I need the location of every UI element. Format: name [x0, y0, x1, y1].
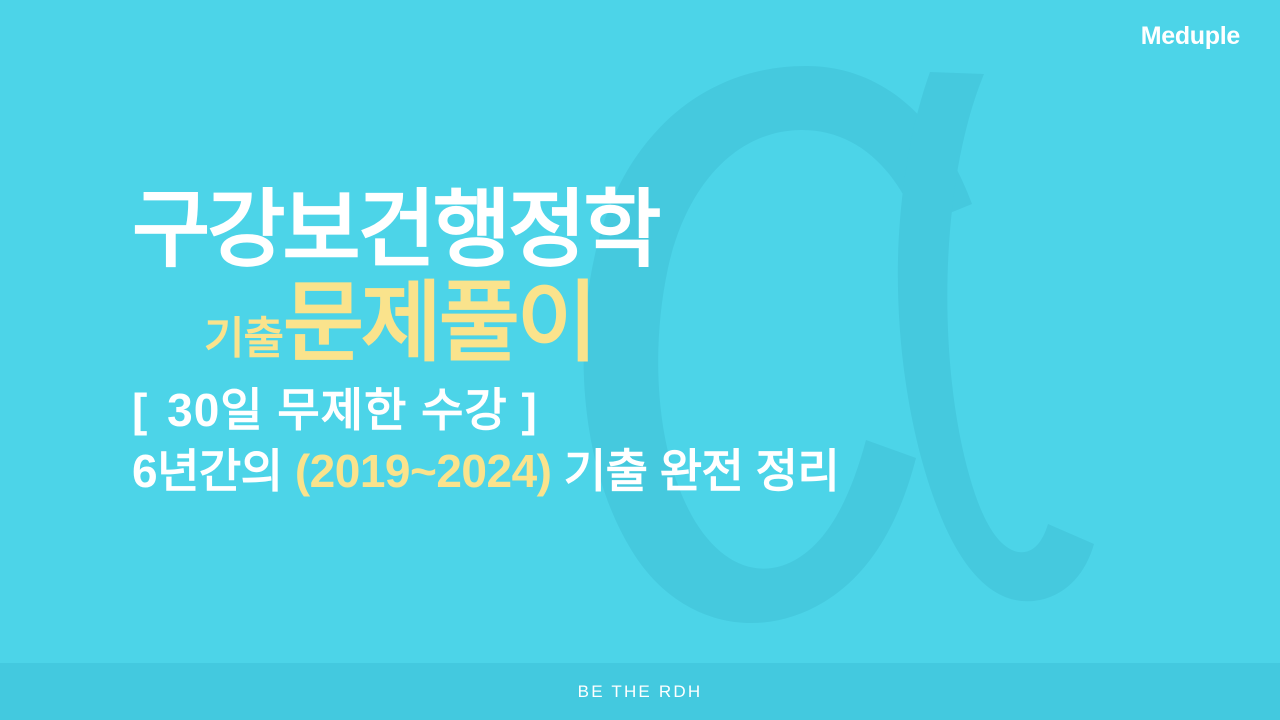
access-duration-line: [ 30일 무제한 수강 ]: [132, 385, 1212, 436]
course-subject-title: 구강보건행정학: [132, 188, 1212, 273]
coverage-prefix-label: 6년간의: [132, 445, 295, 497]
slide-canvas: Meduple 구강보건행정학 기출문제풀이 [ 30일 무제한 수강 ] 6년…: [0, 0, 1280, 720]
topic-prefix-label: 기출: [204, 314, 283, 363]
footer-tagline: BE THE RDH: [578, 682, 703, 702]
footer-band: BE THE RDH: [0, 663, 1280, 720]
bracket-open-mark: [: [132, 384, 153, 436]
coverage-year-range-label: (2019~2024): [295, 445, 552, 497]
access-duration-label: 30일 무제한 수강: [167, 384, 508, 436]
coverage-years-line: 6년간의 (2019~2024) 기출 완전 정리: [132, 446, 1212, 497]
coverage-suffix-label: 기출 완전 정리: [552, 445, 840, 497]
course-topic-line: 기출문제풀이: [132, 279, 1212, 367]
headline-block: 구강보건행정학 기출문제풀이 [ 30일 무제한 수강 ] 6년간의 (2019…: [132, 188, 1212, 496]
brand-logo: Meduple: [1141, 24, 1240, 49]
topic-main-label: 문제풀이: [283, 273, 595, 372]
bracket-close-mark: ]: [522, 384, 543, 436]
